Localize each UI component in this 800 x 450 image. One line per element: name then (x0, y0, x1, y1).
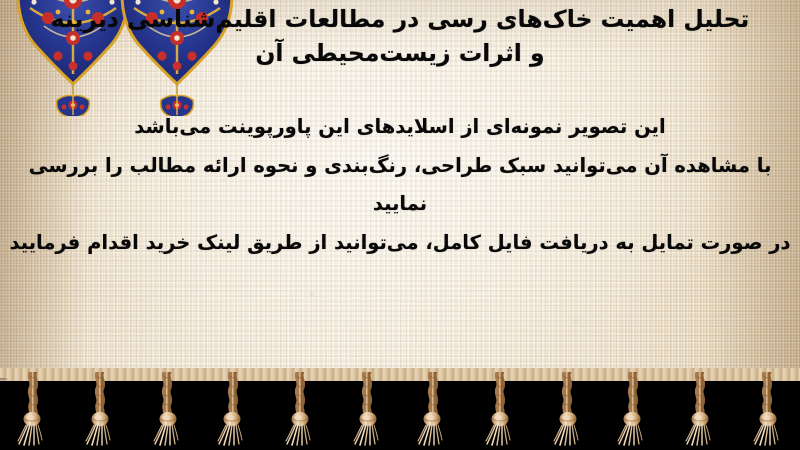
presentation-slide: تحلیل اهمیت خاک‌های رسی در مطالعات اقلیم… (0, 0, 800, 450)
fringe-tassel (677, 372, 723, 446)
fringe-tassel (210, 372, 256, 446)
fringe-tassel (477, 372, 523, 446)
fringe-tassel (10, 372, 56, 446)
fringe-tassel (744, 372, 790, 446)
fringe-tassel (344, 372, 390, 446)
fringe-tassel (144, 372, 190, 446)
fringe-tassel (77, 372, 123, 446)
fringe-tassel (544, 372, 590, 446)
fringe-tassel (610, 372, 656, 446)
slide-title-line-1: تحلیل اهمیت خاک‌های رسی در مطالعات اقلیم… (0, 2, 800, 36)
body-line-3: در صورت تمایل به دریافت فایل کامل، می‌تو… (0, 224, 800, 263)
fringe-tassel (410, 372, 456, 446)
slide-title-line-2: و اثرات زیست‌محیطی آن (0, 36, 800, 70)
slide-title: تحلیل اهمیت خاک‌های رسی در مطالعات اقلیم… (0, 2, 800, 70)
body-line-2: با مشاهده آن می‌توانید سبک طراحی، رنگ‌بن… (0, 147, 800, 224)
body-line-1: این تصویر نمونه‌ای از اسلایدهای این پاور… (0, 108, 800, 147)
slide-body: این تصویر نمونه‌ای از اسلایدهای این پاور… (0, 108, 800, 262)
carpet-fringe (0, 368, 800, 450)
fringe-tassel (277, 372, 323, 446)
